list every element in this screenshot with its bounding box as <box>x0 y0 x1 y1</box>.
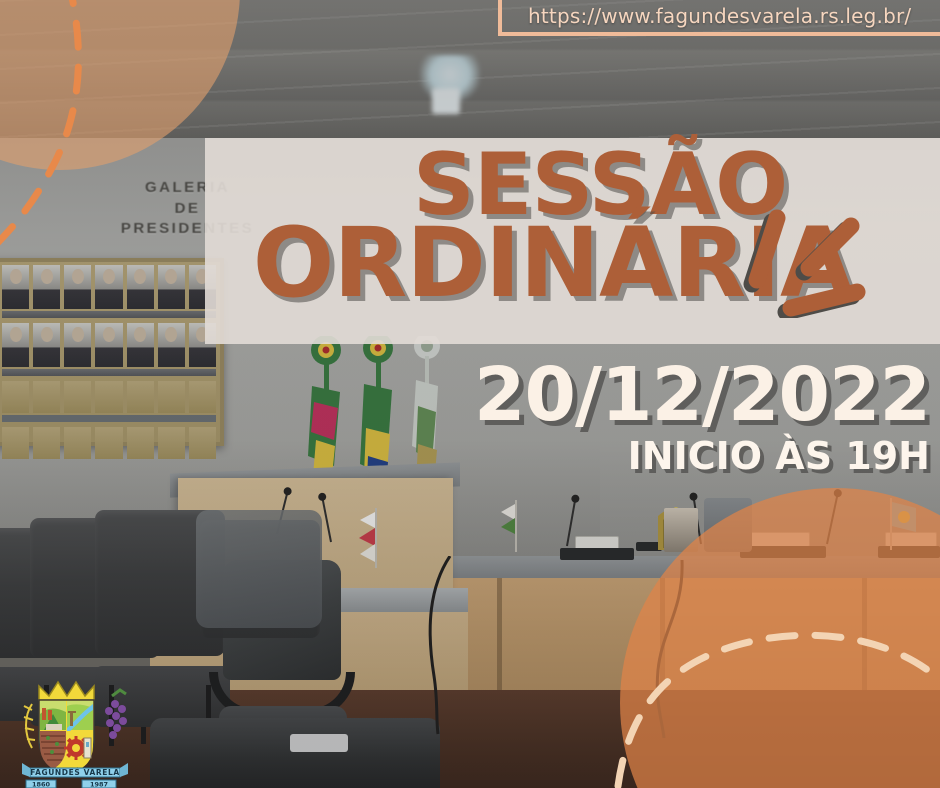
crest-date-left: 1860 <box>32 781 51 788</box>
crest-municipality-label: FAGUNDES VARELA <box>30 768 120 777</box>
event-details: 20/12/2022 INICIO ÀS 19H <box>430 358 930 478</box>
starburst-decoration <box>728 188 898 318</box>
municipal-coat-of-arms: FAGUNDES VARELA 1860 1987 <box>16 664 134 788</box>
event-start-time: INICIO ÀS 19H <box>430 434 930 478</box>
url-bar[interactable]: https://www.fagundesvarela.rs.leg.br/ <box>498 0 940 36</box>
url-text: https://www.fagundesvarela.rs.leg.br/ <box>528 4 911 28</box>
decorative-dashed-arc-bottom-right <box>610 548 940 788</box>
crest-date-right: 1987 <box>90 781 108 788</box>
event-date: 20/12/2022 <box>430 358 930 432</box>
session-announcement-poster: GALERIA DE PRESIDENTES <box>0 0 940 788</box>
